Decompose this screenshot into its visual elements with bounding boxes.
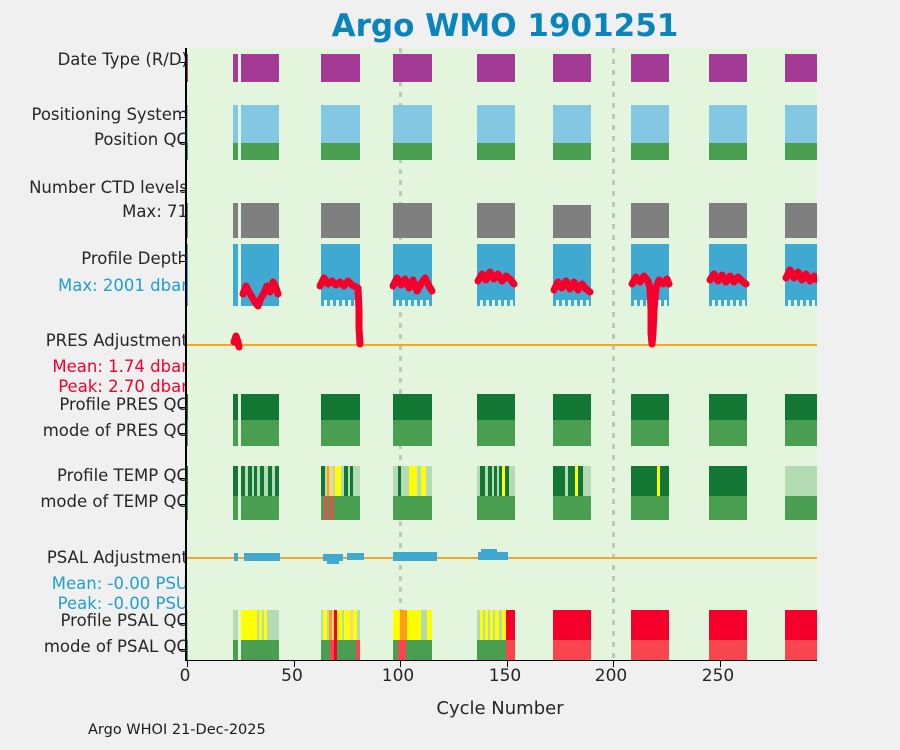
- bar-date-type: [393, 54, 432, 82]
- ylabel-profile-pres-qc: Profile PRES QC: [59, 396, 188, 413]
- ylabel-ctd-levels-max: Max: 71: [122, 203, 188, 220]
- bar-profile-psal-qc: [321, 610, 360, 640]
- bar-positioning-system: [709, 105, 747, 143]
- bar-date-type: [233, 54, 238, 82]
- bar-profile-temp-qc: [321, 466, 360, 496]
- ylabel-psal-adjustment: PSAL Adjustment: [47, 549, 188, 566]
- bar-profile-depth: [187, 244, 188, 306]
- psal-adjustment-trace: [481, 549, 497, 553]
- bar-mode-temp-qc: [785, 496, 817, 520]
- bar-position-qc: [709, 143, 747, 160]
- bar-profile-temp-qc: [241, 466, 279, 496]
- ytick-position-qc: [180, 142, 187, 143]
- bar-mode-psal-qc: [477, 640, 515, 660]
- ylabel-mode-psal-qc: mode of PSAL QC: [44, 638, 188, 655]
- ylabel-profile-psal-qc: Profile PSAL QC: [60, 612, 188, 629]
- bar-position-qc: [241, 143, 279, 160]
- bar-mode-temp-qc: [631, 496, 669, 520]
- bar-mode-temp-qc: [241, 496, 279, 520]
- bar-profile-pres-qc: [187, 394, 188, 420]
- bar-mode-pres-qc: [631, 420, 669, 446]
- bar-positioning-system: [553, 105, 591, 143]
- bar-ctd-levels: [477, 203, 515, 238]
- ylabel-pres-adjustment: PRES Adjustment: [46, 332, 188, 349]
- bar-profile-pres-qc: [631, 394, 669, 420]
- bar-mode-temp-qc: [233, 496, 238, 520]
- bar-profile-psal-qc: [233, 610, 238, 640]
- bar-mode-temp-qc: [187, 496, 188, 520]
- bar-mode-pres-qc: [321, 420, 360, 446]
- ylabel-profile-temp-qc: Profile TEMP QC: [57, 467, 188, 484]
- bar-mode-temp-qc: [553, 496, 591, 520]
- ytick-positioning: [180, 117, 187, 118]
- ylabel-positioning: Positioning System: [31, 106, 188, 123]
- xticklabel-50: 50: [281, 666, 303, 686]
- bar-profile-depth: [241, 244, 279, 306]
- gridline-cycle-200: [612, 48, 615, 660]
- figure-canvas: Argo WMO 1901251 Date Type (R/D) Positio…: [0, 0, 900, 750]
- xtick-100: [400, 660, 401, 667]
- bar-position-qc: [233, 143, 238, 160]
- bar-position-qc: [631, 143, 669, 160]
- depth-comb-edge: [553, 300, 591, 306]
- bar-profile-temp-qc: [631, 466, 669, 496]
- bar-mode-temp-qc: [393, 496, 432, 520]
- footer-credit: Argo WHOI 21-Dec-2025: [88, 722, 266, 738]
- ylabel-profile-depth-max: Max: 2001 dbar: [58, 277, 188, 294]
- xtick-0: [187, 660, 188, 667]
- bar-profile-psal-qc: [785, 610, 817, 640]
- ytick-profile-temp-qc: [180, 478, 187, 479]
- bar-profile-pres-qc: [233, 394, 238, 420]
- xtick-150: [507, 660, 508, 667]
- bar-profile-psal-qc: [553, 610, 591, 640]
- bar-mode-psal-qc: [233, 640, 238, 660]
- pres-adjustment-zero-line: [187, 344, 817, 346]
- bar-profile-psal-qc: [631, 610, 669, 640]
- bar-mode-temp-qc: [709, 496, 747, 520]
- ylabel-psal-peak: Peak: -0.00 PSU: [58, 595, 188, 612]
- bar-mode-psal-qc: [321, 640, 360, 660]
- bar-mode-pres-qc: [709, 420, 747, 446]
- bar-profile-depth: [321, 244, 360, 306]
- bar-mode-psal-qc: [553, 640, 591, 660]
- x-axis-label: Cycle Number: [185, 698, 815, 719]
- bar-positioning-system: [233, 105, 238, 143]
- bar-position-qc: [393, 143, 432, 160]
- bar-position-qc: [321, 143, 360, 160]
- xtick-250: [720, 660, 721, 667]
- bar-mode-pres-qc: [785, 420, 817, 446]
- bar-profile-temp-qc: [785, 466, 817, 496]
- depth-comb-edge: [709, 300, 747, 306]
- xticklabel-150: 150: [489, 666, 521, 686]
- bar-date-type: [321, 54, 360, 82]
- bar-mode-psal-qc: [785, 640, 817, 660]
- bar-profile-pres-qc: [477, 394, 515, 420]
- psal-adjustment-trace: [234, 553, 238, 561]
- bar-date-type: [631, 54, 669, 82]
- ytick-profile-pres-qc: [180, 407, 187, 408]
- ylabel-pres-mean: Mean: 1.74 dbar: [52, 358, 188, 375]
- ytick-mode-temp-qc: [180, 504, 187, 505]
- ylabel-mode-temp-qc: mode of TEMP QC: [40, 493, 188, 510]
- bar-mode-psal-qc: [709, 640, 747, 660]
- bar-profile-depth: [631, 244, 669, 306]
- ylabel-ctd-levels: Number CTD levels: [29, 179, 188, 196]
- xtick-200: [613, 660, 614, 667]
- bar-mode-temp-qc: [477, 496, 515, 520]
- plot-axes: [185, 48, 817, 661]
- xtick-50: [294, 660, 295, 667]
- ytick-profile-depth: [180, 261, 187, 262]
- depth-comb-edge: [393, 300, 432, 306]
- bar-mode-pres-qc: [233, 420, 238, 446]
- psal-adjustment-trace: [244, 553, 280, 561]
- bar-ctd-levels: [709, 203, 747, 238]
- bar-date-type: [187, 54, 188, 82]
- psal-adjustment-trace: [327, 560, 339, 564]
- bar-mode-psal-qc: [631, 640, 669, 660]
- bar-date-type: [553, 54, 591, 82]
- bar-profile-psal-qc: [393, 610, 432, 640]
- bar-ctd-levels: [321, 203, 360, 238]
- bar-profile-pres-qc: [393, 394, 432, 420]
- ylabel-mode-pres-qc: mode of PRES QC: [43, 422, 188, 439]
- bar-date-type: [477, 54, 515, 82]
- bar-mode-pres-qc: [553, 420, 591, 446]
- bar-profile-temp-qc: [477, 466, 515, 496]
- bar-ctd-levels: [631, 203, 669, 238]
- bar-position-qc: [785, 143, 817, 160]
- depth-comb-edge: [631, 300, 669, 306]
- bar-positioning-system: [477, 105, 515, 143]
- bar-profile-depth: [233, 244, 238, 306]
- bar-mode-psal-qc: [241, 640, 279, 660]
- ytick-profile-psal-qc: [180, 623, 187, 624]
- bar-profile-psal-qc: [709, 610, 747, 640]
- bar-positioning-system: [393, 105, 432, 143]
- bar-profile-depth: [393, 244, 432, 306]
- bar-mode-pres-qc: [477, 420, 515, 446]
- bar-profile-psal-qc: [241, 610, 279, 640]
- bar-profile-depth: [477, 244, 515, 306]
- bar-positioning-system: [241, 105, 279, 143]
- bar-profile-depth: [785, 244, 817, 306]
- bar-profile-temp-qc: [553, 466, 591, 496]
- psal-adjustment-trace: [347, 553, 364, 560]
- plot-content: [187, 48, 817, 660]
- bar-profile-psal-qc: [477, 610, 515, 640]
- ytick-mode-psal-qc: [180, 649, 187, 650]
- psal-adjustment-trace: [478, 552, 508, 560]
- bar-profile-temp-qc: [187, 466, 188, 496]
- ytick-ctd-levels: [180, 190, 187, 191]
- bar-profile-depth: [553, 244, 591, 306]
- bar-positioning-system: [187, 105, 188, 143]
- bar-profile-temp-qc: [393, 466, 432, 496]
- bar-profile-pres-qc: [321, 394, 360, 420]
- depth-comb-edge: [477, 300, 515, 306]
- depth-comb-edge: [785, 300, 817, 306]
- bar-date-type: [785, 54, 817, 82]
- bar-positioning-system: [631, 105, 669, 143]
- bar-ctd-levels: [393, 203, 432, 238]
- bar-ctd-levels: [233, 203, 238, 238]
- ylabel-position-qc: Position QC: [94, 131, 188, 148]
- bar-profile-psal-qc: [187, 610, 188, 640]
- xticklabel-200: 200: [595, 666, 627, 686]
- psal-adjustment-trace: [393, 552, 437, 561]
- bar-profile-pres-qc: [553, 394, 591, 420]
- ytick-date-type: [180, 62, 187, 63]
- bar-profile-pres-qc: [241, 394, 279, 420]
- bar-mode-psal-qc: [187, 640, 188, 660]
- depth-comb-edge: [321, 300, 360, 306]
- bar-position-qc: [553, 143, 591, 160]
- page-title: Argo WMO 1901251: [0, 8, 900, 44]
- ytick-mode-pres-qc: [180, 433, 187, 434]
- bar-profile-pres-qc: [785, 394, 817, 420]
- bar-positioning-system: [785, 105, 817, 143]
- bar-profile-temp-qc: [709, 466, 747, 496]
- bar-positioning-system: [321, 105, 360, 143]
- bar-ctd-levels: [353, 234, 360, 238]
- bar-profile-depth: [709, 244, 747, 306]
- bar-mode-psal-qc: [393, 640, 432, 660]
- bar-ctd-levels: [785, 203, 817, 238]
- bar-position-qc: [187, 143, 188, 160]
- xticklabel-0: 0: [180, 666, 191, 686]
- bar-mode-pres-qc: [393, 420, 432, 446]
- bar-ctd-levels: [553, 205, 591, 238]
- ylabel-pres-peak: Peak: 2.70 dbar: [58, 378, 188, 395]
- xticklabel-250: 250: [702, 666, 734, 686]
- bar-mode-pres-qc: [241, 420, 279, 446]
- bar-ctd-levels: [241, 203, 279, 238]
- ylabel-psal-mean: Mean: -0.00 PSU: [52, 575, 188, 592]
- bar-profile-pres-qc: [709, 394, 747, 420]
- bar-date-type: [709, 54, 747, 82]
- bar-profile-temp-qc: [233, 466, 238, 496]
- bar-position-qc: [477, 143, 515, 160]
- bar-ctd-levels: [187, 203, 188, 238]
- ylabel-profile-depth: Profile Depth: [81, 250, 188, 267]
- bar-date-type: [241, 54, 279, 82]
- ylabel-date-type: Date Type (R/D): [58, 51, 188, 68]
- bar-mode-pres-qc: [187, 420, 188, 446]
- xticklabel-100: 100: [382, 666, 414, 686]
- bar-mode-temp-qc: [321, 496, 360, 520]
